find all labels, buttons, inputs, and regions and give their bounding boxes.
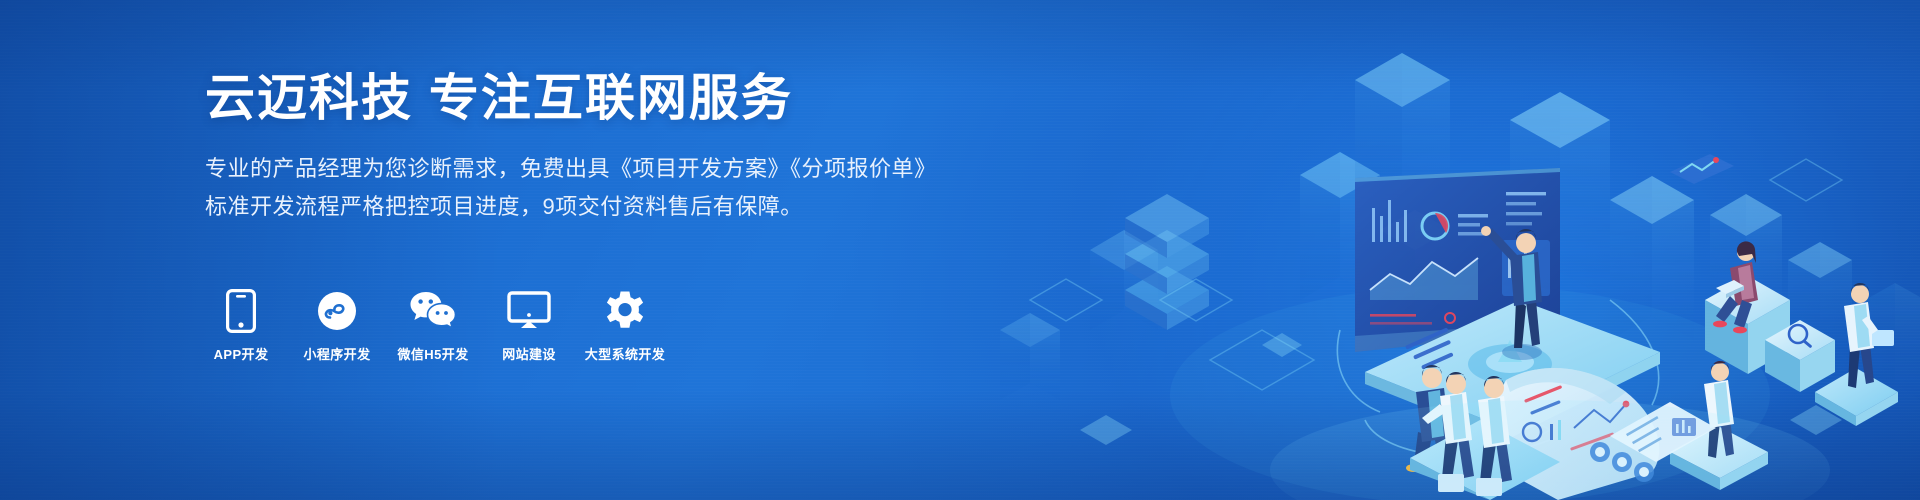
gear-icon <box>604 288 646 334</box>
service-item-website[interactable]: 网站建设 <box>493 288 565 363</box>
service-label: 大型系统开发 <box>585 344 665 363</box>
service-list: APP开发 小程序开发 <box>205 288 661 363</box>
service-item-app[interactable]: APP开发 <box>205 288 277 363</box>
service-item-wechat-h5[interactable]: 微信H5开发 <box>397 288 469 363</box>
service-label: APP开发 <box>214 344 269 363</box>
page-title: 云迈科技 专注互联网服务 <box>205 68 965 128</box>
service-label: 网站建设 <box>502 344 556 363</box>
service-item-mini-program[interactable]: 小程序开发 <box>301 288 373 363</box>
service-label: 小程序开发 <box>303 344 370 363</box>
hero-banner: 云迈科技 专注互联网服务 专业的产品经理为您诊断需求，免费出具《项目开发方案》《… <box>0 0 1920 500</box>
subtitle-line-2: 标准开发流程严格把控项目进度，9项交付资料售后有保障。 <box>205 188 965 226</box>
monitor-icon <box>507 288 551 334</box>
mobile-phone-icon <box>226 288 256 334</box>
service-item-enterprise-system[interactable]: 大型系统开发 <box>589 288 661 363</box>
hero-subtitle: 专业的产品经理为您诊断需求，免费出具《项目开发方案》《分项报价单》 标准开发流程… <box>205 150 965 226</box>
hero-content: 云迈科技 专注互联网服务 专业的产品经理为您诊断需求，免费出具《项目开发方案》《… <box>205 68 965 226</box>
service-label: 微信H5开发 <box>397 344 468 363</box>
subtitle-line-1: 专业的产品经理为您诊断需求，免费出具《项目开发方案》《分项报价单》 <box>205 150 965 188</box>
isometric-illustration <box>910 0 1920 500</box>
mini-program-icon <box>317 288 357 334</box>
wechat-icon <box>409 288 457 334</box>
